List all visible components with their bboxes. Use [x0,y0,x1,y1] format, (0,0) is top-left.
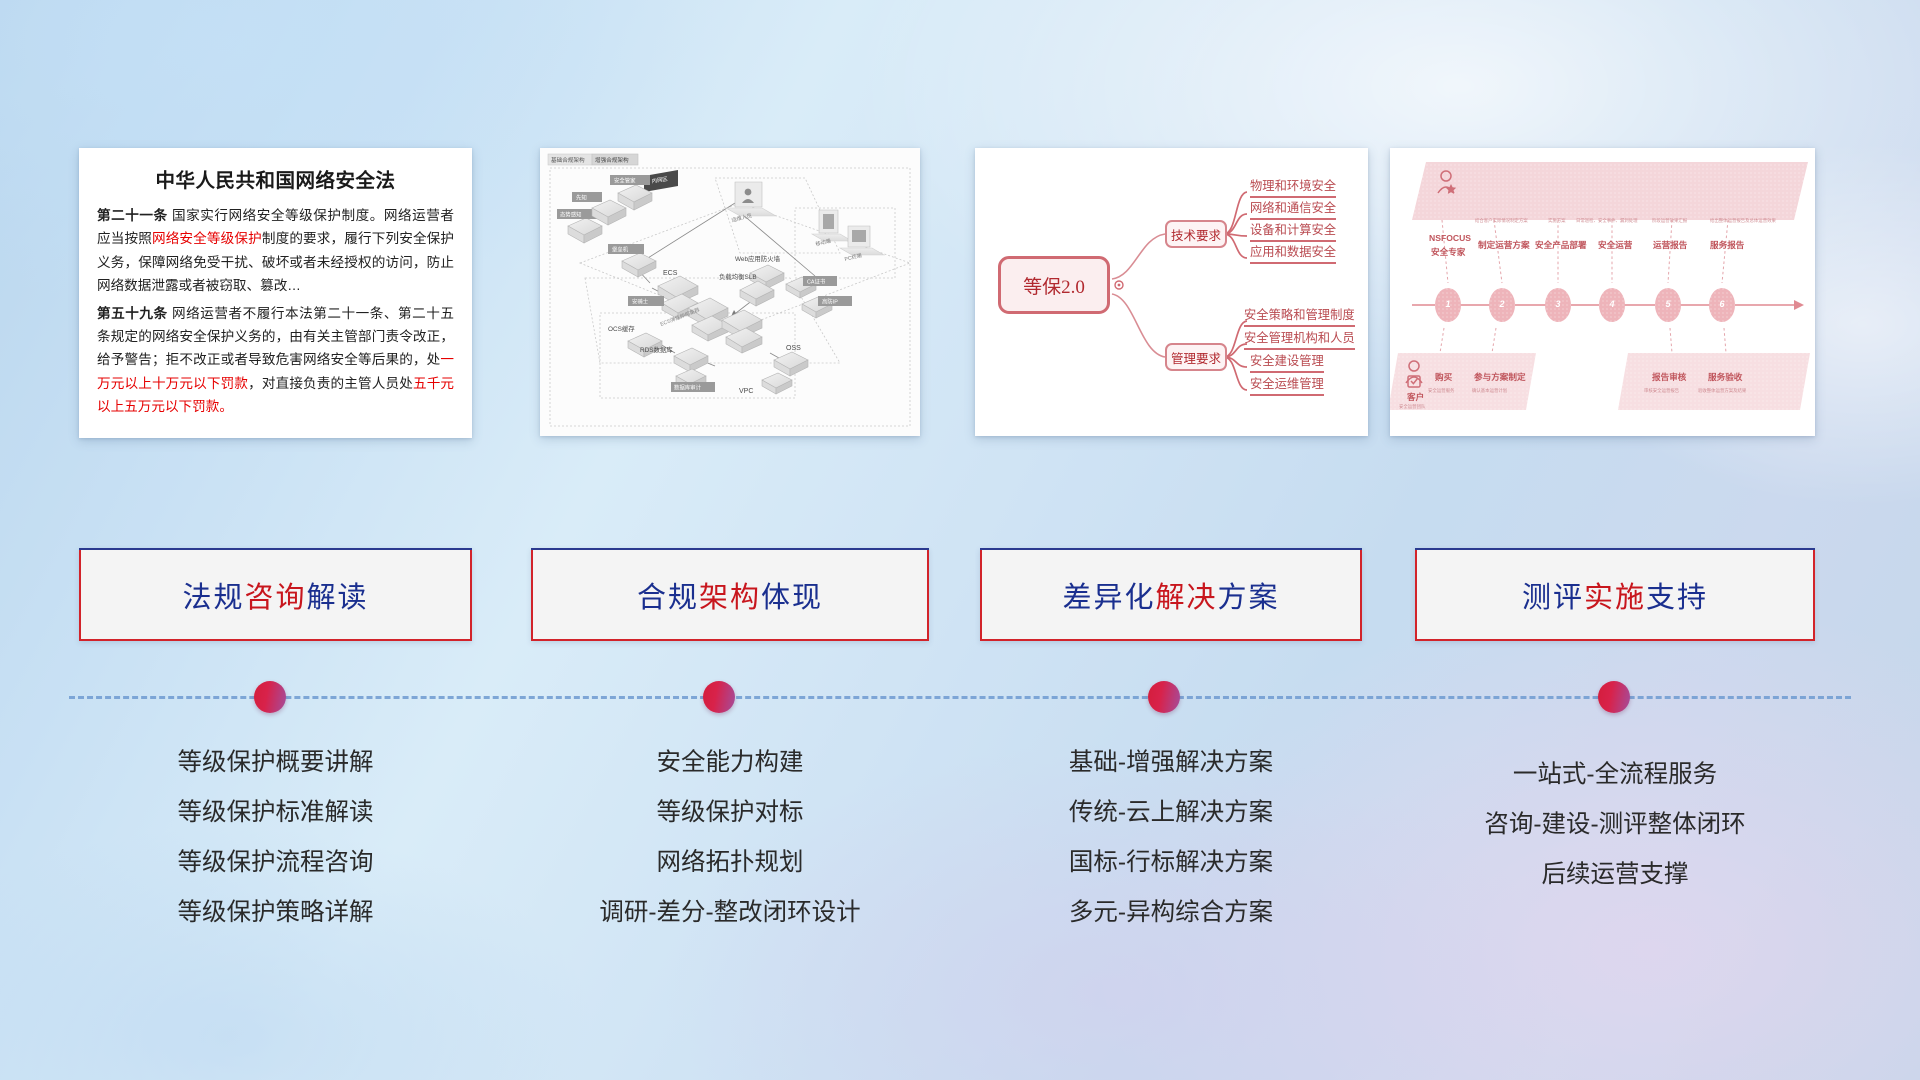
mindmap-center-label: 等保2.0 [1023,272,1085,299]
timeline-dot-2[interactable] [703,681,735,713]
mindmap-leaf-t1: 物理和环境安全 [1250,176,1336,198]
timeline-bottom-sub-2: 确认基本运营计划 [1472,388,1507,394]
header-4-pre: 测评 [1522,582,1584,614]
mindmap-branch-technical: 技术要求 [1165,220,1227,248]
header-box-label-3: 差异化解决方案 [1062,574,1279,616]
header-4-post: 支持 [1646,582,1708,614]
mindmap-leaf-t3: 设备和计算安全 [1250,220,1336,242]
list-item: 安全能力构建 [531,738,929,788]
mindmap-leaf-m2: 安全管理机构和人员 [1244,328,1355,350]
list-item: 一站式-全流程服务 [1415,750,1815,800]
article-59-label: 第五十九条 [97,306,168,321]
header-2-pre: 合规 [637,582,699,614]
mindmap-leaf-t2: 网络和通信安全 [1250,198,1336,220]
timeline-canvas: NSFOCUS 安全专家 结合客户实际情况制定方案 制定运营方案 实施方案 安全… [1390,148,1815,436]
timeline-customer-sub: 安全运营团队 [1399,404,1425,410]
header-box-label-2: 合规架构体现 [637,574,823,616]
feature-list-2: 安全能力构建 等级保护对标 网络拓扑规划 调研-差分-整改闭环设计 [531,738,929,938]
law-title: 中华人民共和国网络安全法 [97,164,454,193]
timeline-dot-1[interactable] [254,681,286,713]
header-box-differentiated-solution[interactable]: 差异化解决方案 [980,548,1362,641]
timeline-step-number-3: 3 [1546,299,1570,309]
svg-text:VPC: VPC [739,388,753,395]
list-item: 等级保护流程咨询 [79,838,472,888]
svg-text:安骑士: 安骑士 [632,298,649,306]
list-item: 等级保护策略详解 [79,888,472,938]
svg-text:基础合规架构: 基础合规架构 [551,156,585,164]
law-document: 中华人民共和国网络安全法 第二十一条 国家实行网络安全等级保护制度。网络运营者应… [79,148,472,426]
timeline-bottom-sub-3: 审核安全运营报告 [1644,388,1679,394]
svg-text:RDS数据库: RDS数据库 [640,345,673,354]
article-59-text-b: ，对直接负责的主管人员处 [248,376,413,391]
card-architecture-diagram[interactable]: 内网区 态势感知 先知 [540,148,920,436]
timeline-bottom-title-4: 服务验收 [1708,371,1742,383]
header-box-regulation-consulting[interactable]: 法规咨询解读 [79,548,472,641]
list-item: 传统-云上解决方案 [980,788,1362,838]
timeline-bottom-title-3: 报告审核 [1652,371,1686,383]
timeline-top-title-5: 服务报告 [1710,239,1744,251]
feature-list-4: 一站式-全流程服务 咨询-建设-测评整体闭环 后续运营支撑 [1415,750,1815,900]
header-1-pre: 法规 [182,582,244,614]
timeline-top-title-2: 安全产品部署 [1535,239,1587,251]
article-21-label: 第二十一条 [97,208,168,223]
header-1-hl: 咨询 [244,582,306,614]
svg-text:Web应用防火墙: Web应用防火墙 [735,254,781,263]
svg-text:ECS: ECS [663,270,678,277]
list-item: 调研-差分-整改闭环设计 [531,888,929,938]
mindmap-leaf-t4: 应用和数据安全 [1250,242,1336,264]
timeline-top-sub-2: 实施方案 [1548,218,1566,224]
card-law-document[interactable]: 中华人民共和国网络安全法 第二十一条 国家实行网络安全等级保护制度。网络运营者应… [79,148,472,438]
list-item: 等级保护概要讲解 [79,738,472,788]
timeline-step-number-6: 6 [1710,299,1734,309]
mindmap-leaf-m3: 安全建设管理 [1250,351,1324,373]
mindmap-leaf-m4: 安全运维管理 [1250,374,1324,396]
header-box-evaluation-support[interactable]: 测评实施支持 [1415,548,1815,641]
header-box-compliance-architecture[interactable]: 合规架构体现 [531,548,929,641]
header-1-post: 解读 [307,582,369,614]
svg-text:OSS: OSS [786,345,801,352]
architecture-canvas: 内网区 态势感知 先知 [540,148,920,436]
mindmap-leaf-m1: 安全策略和管理制度 [1244,305,1355,327]
mindmap-canvas: 等保2.0 技术要求 管理要求 物理和环境安全 网络和通信安全 设备和计算安全 … [975,148,1368,436]
svg-text:态势感知: 态势感知 [560,211,582,219]
article-21-highlight: 网络安全等级保护 [152,231,262,246]
header-box-label-4: 测评实施支持 [1522,574,1708,616]
timeline-step-number-4: 4 [1600,299,1624,309]
svg-text:负载均衡SLB: 负载均衡SLB [719,272,757,281]
svg-text:增强合规架构: 增强合规架构 [595,156,629,164]
header-box-label-1: 法规咨询解读 [182,574,368,616]
timeline-step-number-2: 2 [1490,299,1514,309]
svg-text:高防IP: 高防IP [822,298,838,306]
mindmap-center-node: 等保2.0 [998,256,1110,314]
law-article-59: 第五十九条 网络运营者不履行本法第二十一条、第二十五条规定的网络安全保护义务的，… [97,302,454,419]
list-item: 后续运营支撑 [1415,850,1815,900]
list-item: 国标-行标解决方案 [980,838,1362,888]
list-item: 基础-增强解决方案 [980,738,1362,788]
card-row: 中华人民共和国网络安全法 第二十一条 国家实行网络安全等级保护制度。网络运营者应… [0,148,1920,448]
timeline-customer-role: 客户 [1407,391,1424,403]
header-4-hl: 实施 [1584,582,1646,614]
header-3-hl: 解决 [1155,582,1217,614]
feature-list-3: 基础-增强解决方案 传统-云上解决方案 国标-行标解决方案 多元-异构综合方案 [980,738,1362,938]
card-mindmap[interactable]: 等保2.0 技术要求 管理要求 物理和环境安全 网络和通信安全 设备和计算安全 … [975,148,1368,436]
timeline-bottom-title-1: 购买 [1435,371,1452,383]
timeline-bottom-title-2: 参与方案制定 [1474,371,1526,383]
timeline-top-sub-5: 给出整体运营报告及总体运营效果 [1710,218,1776,224]
law-article-21: 第二十一条 国家实行网络安全等级保护制度。网络运营者应当按照网络安全等级保护制度… [97,204,454,298]
timeline-expert-brand: NSFOCUS [1429,233,1471,243]
svg-text:OCS缓存: OCS缓存 [608,324,635,333]
list-item: 多元-异构综合方案 [980,888,1362,938]
timeline-expert-role: 安全专家 [1431,246,1465,258]
card-service-timeline[interactable]: NSFOCUS 安全专家 结合客户实际情况制定方案 制定运营方案 实施方案 安全… [1390,148,1815,436]
timeline-top-title-1: 制定运营方案 [1478,239,1530,251]
timeline-top-sub-1: 结合客户实际情况制定方案 [1475,218,1528,224]
timeline-top-title-3: 安全运营 [1598,239,1632,251]
svg-text:堡垒机: 堡垒机 [612,246,629,254]
list-item: 等级保护标准解读 [79,788,472,838]
svg-text:先知: 先知 [576,194,587,202]
timeline-top-sub-4: 阶段运营效果汇报 [1652,218,1687,224]
timeline-top-sub-3: 日常巡检、安全事件、漏洞处理 [1576,218,1637,224]
list-item: 等级保护对标 [531,788,929,838]
timeline-dot-4[interactable] [1598,681,1630,713]
list-item: 咨询-建设-测评整体闭环 [1415,800,1815,850]
timeline-bottom-sub-4: 验收整体运营方案及结果 [1698,388,1746,394]
svg-text:安全管家: 安全管家 [614,177,636,185]
timeline-step-number-5: 5 [1656,299,1680,309]
timeline-step-number-1: 1 [1436,299,1460,309]
header-3-pre: 差异化 [1062,582,1155,614]
timeline-dashed-line [69,696,1851,699]
header-2-hl: 架构 [699,582,761,614]
list-item: 网络拓扑规划 [531,838,929,888]
timeline-dot-3[interactable] [1148,681,1180,713]
svg-text:CA证书: CA证书 [807,278,826,286]
arch-tabs: 基础合规架构 增强合规架构 [548,154,638,165]
header-3-post: 方案 [1218,582,1280,614]
mindmap-branch-management: 管理要求 [1165,343,1227,371]
timeline-top-title-4: 运营报告 [1653,239,1687,251]
timeline-bottom-sub-1: 安全运营服务 [1428,388,1454,394]
feature-list-1: 等级保护概要讲解 等级保护标准解读 等级保护流程咨询 等级保护策略详解 [79,738,472,938]
header-2-post: 体现 [761,582,823,614]
svg-text:数据库审计: 数据库审计 [674,384,702,392]
architecture-svg: 内网区 态势感知 先知 [540,148,920,436]
